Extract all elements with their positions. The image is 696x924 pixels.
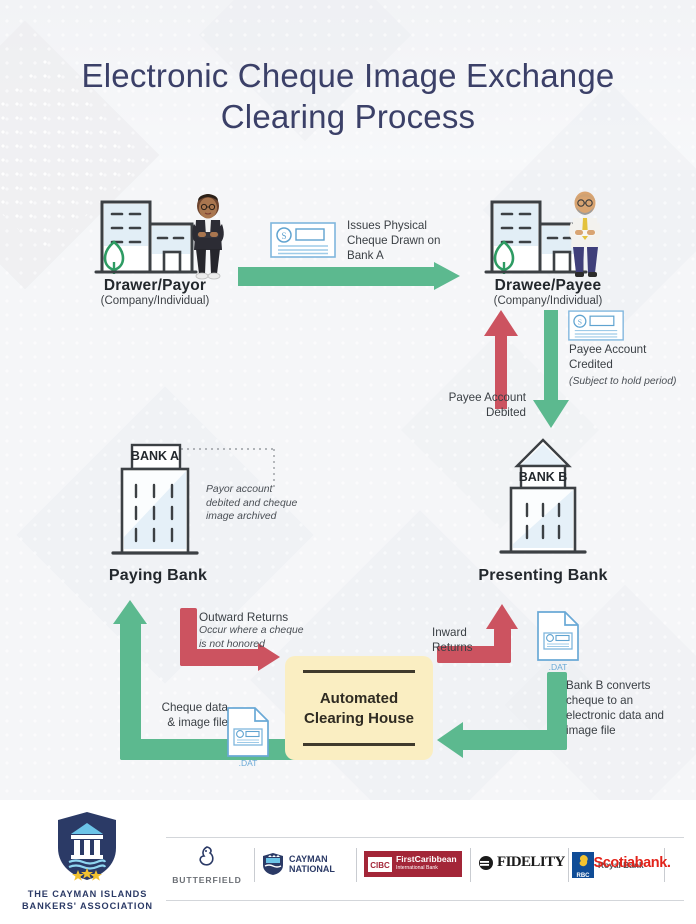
footer-logo-firstcaribbean-line-2: International Bank [396,864,457,874]
infographic-canvas: Electronic Cheque Image Exchange Clearin… [0,0,696,924]
background-decoration [0,0,696,924]
svg-text:S: S [281,231,286,241]
businessman-avatar [562,188,608,280]
drawee-sublabel: (Company/Individual) [400,295,696,307]
svg-text:S: S [578,318,582,327]
paying-bank-note: Payor account debited and cheque image a… [206,483,302,524]
presenting-bank-note: Bank B converts cheque to an electronic … [566,678,678,738]
bank-b-sign: BANK B [497,470,589,484]
svg-text:RBC: RBC [577,873,591,878]
outward-returns-label: Outward Returns [199,610,329,625]
footer-logo-cayman-national: CAYMAN NATIONAL [262,852,348,876]
footer-logo-cayman-national-line-1: CAYMAN [289,854,335,865]
butterfield-pelican-mark [194,846,220,868]
payee-credited-subnote: (Subject to hold period) [569,375,679,389]
footer-logo-fidelity: FIDELITY [478,854,566,871]
association-name-line-2: BANKERS' ASSOCIATION [10,900,165,912]
issue-cheque-icon: S [270,222,336,258]
footer: THE CAYMAN ISLANDS BANKERS' ASSOCIATION … [0,800,696,924]
footer-logo-butterfield-label: BUTTERFIELD [168,875,246,885]
page-title-line-1: Electronic Cheque Image Exchange [0,55,696,96]
cheque-data-dat-label: .DAT [226,758,270,768]
cheque-data-dat-file-icon [226,706,270,758]
drawer-sublabel: (Company/Individual) [0,295,310,307]
drawee-label: Drawee/Payee [400,277,696,295]
footer-logo-firstcaribbean: CIBC FirstCaribbean International Bank [364,851,462,877]
bank-b-dat-file-icon [536,610,580,662]
cibc-mark: CIBC [368,857,392,872]
fidelity-mark [478,855,494,871]
footer-logo-cayman-national-line-2: NATIONAL [289,864,335,875]
payee-credited-cheque-icon: S [568,310,624,341]
page-title-line-2: Clearing Process [0,96,696,137]
automated-clearing-house-box: Automated Clearing House [285,656,433,760]
footer-logo-scotiabank: Scotiabank. [568,855,696,871]
cheque-data-label: Cheque data & image file [152,700,228,730]
footer-logo-butterfield: BUTTERFIELD [168,846,246,885]
association-name-line-1: THE CAYMAN ISLANDS [10,888,165,900]
paying-bank-label: Paying Bank [48,567,268,585]
issue-cheque-label: Issues Physical Cheque Drawn on Bank A [347,218,467,263]
payee-credited-label: Payee Account Credited [569,342,681,372]
svg-text:CIBC: CIBC [370,861,390,870]
bank-a-sign: BANK A [110,449,200,463]
footer-logo-scotiabank-label: Scotiabank. [568,855,696,871]
businesswoman-avatar [184,192,232,280]
association-name: THE CAYMAN ISLANDS BANKERS' ASSOCIATION [10,888,165,912]
footer-logo-fidelity-label: FIDELITY [497,854,565,871]
ach-label-line-2: Clearing House [285,709,433,729]
ach-label-line-1: Automated [285,689,433,709]
presenting-bank-label: Presenting Bank [432,567,654,585]
cayman-national-shield-mark [262,852,284,876]
payee-debited-label: Payee Account Debited [406,390,526,420]
shield-crest-logo [56,810,118,882]
inward-returns-label: Inward Returns [432,625,488,655]
footer-logo-firstcaribbean-line-1: FirstCaribbean [396,855,457,865]
bank-b-dat-label: .DAT [536,662,580,672]
outward-returns-subnote: Occur where a cheque is not honored [199,624,309,651]
presenting-bank-building-icon [497,438,589,564]
page-title: Electronic Cheque Image Exchange Clearin… [0,55,696,137]
